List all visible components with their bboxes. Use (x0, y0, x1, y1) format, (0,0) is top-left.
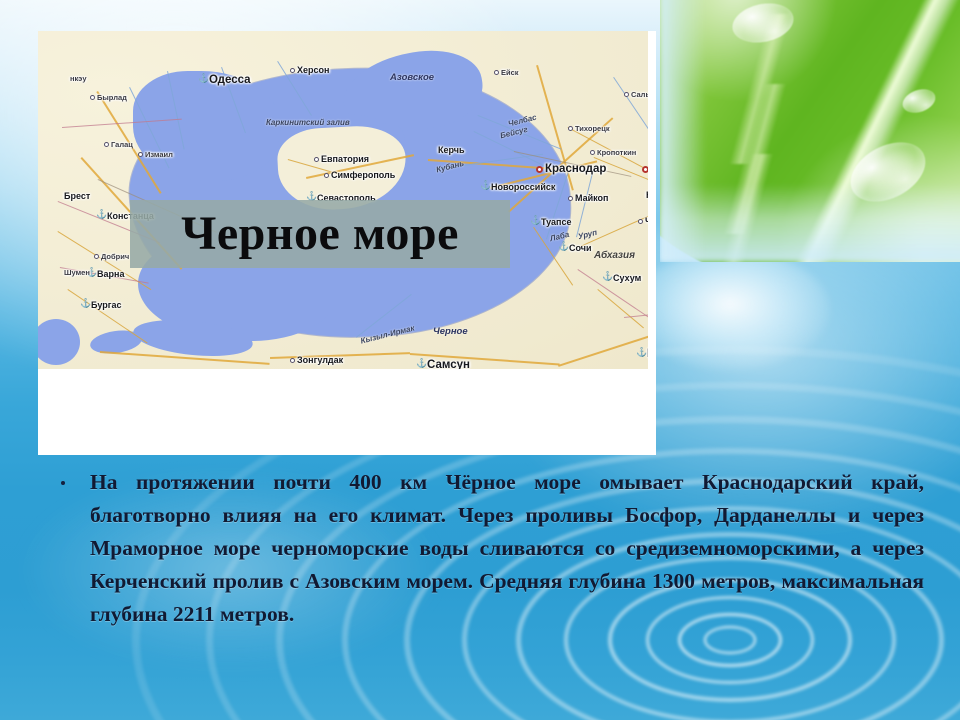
sea-title-text: Черное море (181, 210, 459, 258)
city-label: Евпатория (321, 155, 369, 164)
sea-title-band: Черное море (130, 200, 510, 268)
map-city-18: Симферополь (324, 171, 395, 180)
map-city-5: Измаил (138, 151, 173, 159)
city-label: Черкесск (645, 217, 648, 226)
city-marker-icon (494, 70, 499, 75)
map-city-31: Ставрополь (642, 164, 648, 176)
city-label: Новороссийск (491, 183, 555, 192)
map-city-13: Зонгулдак (290, 356, 343, 365)
map-region-name: Абхазия (594, 250, 635, 261)
city-label: Измаил (145, 151, 173, 159)
map-city-14: Самсун (420, 360, 470, 369)
map-city-30: Сальск (624, 91, 648, 99)
map-sea-name: Черное (433, 327, 468, 337)
map-city-2: Бырлад (90, 94, 127, 102)
map-city-23: Новороссийск (484, 183, 555, 192)
city-label: Одесса (209, 75, 251, 87)
city-label: Сочи (569, 244, 592, 253)
city-label: Херсон (297, 66, 329, 75)
map-city-4: Галац (104, 141, 133, 149)
map-city-28: Тихорецк (568, 125, 610, 133)
city-marker-icon (90, 95, 95, 100)
map-city-16: Батуми (640, 349, 648, 361)
city-marker-icon (642, 166, 648, 173)
city-label: Сухум (613, 274, 641, 283)
map-city-3: нкэу (70, 75, 87, 83)
city-marker-icon (568, 196, 573, 201)
city-marker-icon (290, 68, 295, 73)
city-label: нкэу (70, 75, 87, 83)
city-label: Майкоп (575, 194, 608, 203)
map-city-9: Варна (90, 270, 124, 279)
city-marker-icon (104, 142, 109, 147)
city-label: Шумен (64, 269, 90, 277)
city-label: Добрич (101, 253, 129, 261)
city-marker-icon (568, 126, 573, 131)
black-sea-map[interactable]: АзовскоеЧерное Каркинитский залив Кубань… (38, 31, 648, 369)
city-label: Бырлад (97, 94, 127, 102)
city-label: Самсун (427, 360, 470, 369)
map-city-33: Черкесск (638, 217, 648, 226)
body-paragraph: На протяжении почти 400 км Чёрное море о… (90, 466, 924, 631)
city-marker-icon (324, 173, 329, 178)
map-sea-name: Азовское (390, 73, 434, 83)
city-label: Тихорецк (575, 125, 610, 133)
city-label: Зонгулдак (297, 356, 343, 365)
map-city-8: Добрич (94, 253, 129, 261)
city-label: Брест (64, 192, 90, 201)
map-city-25: Туапсе (534, 218, 572, 227)
map-city-26: Сочи (562, 244, 592, 253)
city-marker-icon (314, 157, 319, 162)
map-city-6: Брест (64, 192, 90, 201)
map-city-0: Одесса (202, 75, 251, 87)
city-label: Варна (97, 270, 124, 279)
map-city-22: Краснодар (536, 164, 606, 176)
city-marker-icon (536, 166, 543, 173)
city-marker-icon (590, 150, 595, 155)
city-label: Бургас (91, 301, 122, 310)
city-label: Керчь (438, 146, 465, 155)
map-city-17: Евпатория (314, 155, 369, 164)
city-label: Краснодар (545, 164, 606, 176)
leaf-decoration-image (660, 0, 960, 262)
city-marker-icon (94, 254, 99, 259)
body-text-block: На протяжении почти 400 км Чёрное море о… (52, 466, 924, 631)
map-city-1: Херсон (290, 66, 329, 75)
city-label: Кропоткин (597, 149, 636, 157)
map-city-10: Шумен (64, 269, 90, 277)
map-bay-name: Каркинитский залив (266, 119, 350, 127)
city-marker-icon (290, 358, 295, 363)
map-city-21: Ейск (494, 69, 519, 77)
bullet-marker (61, 481, 65, 485)
leaf-left-fade (660, 0, 706, 262)
water-ripple-center (630, 250, 830, 370)
city-label: Сальск (631, 91, 648, 99)
city-label: Галац (111, 141, 133, 149)
map-city-27: Сухум (606, 274, 641, 283)
city-marker-icon (138, 152, 143, 157)
map-city-24: Майкоп (568, 194, 608, 203)
city-label: Ейск (501, 69, 519, 77)
city-label: Симферополь (331, 171, 395, 180)
map-city-29: Кропоткин (590, 149, 636, 157)
city-marker-icon (624, 92, 629, 97)
city-label: Туапсе (541, 218, 572, 227)
city-marker-icon (638, 219, 643, 224)
map-city-32: Невинномысск (646, 191, 648, 200)
city-label: Невинномысск (646, 191, 648, 200)
map-city-20: Керчь (438, 146, 465, 155)
map-city-11: Бургас (84, 301, 122, 310)
content-card: АзовскоеЧерное Каркинитский залив Кубань… (38, 31, 656, 455)
